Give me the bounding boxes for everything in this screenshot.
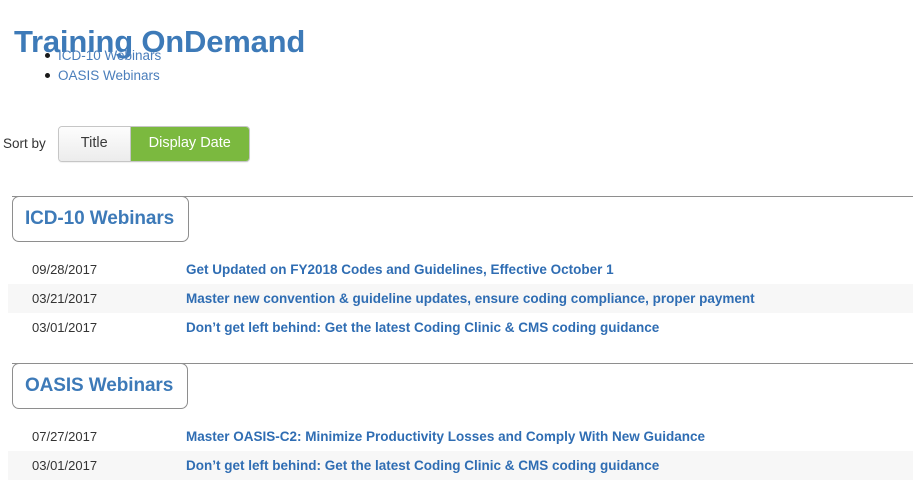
- section-header: OASIS Webinars: [0, 363, 921, 411]
- section-tab-icd10: ICD-10 Webinars: [12, 196, 189, 242]
- row-title: Don’t get left behind: Get the latest Co…: [186, 457, 659, 475]
- table-row[interactable]: 03/01/2017 Don’t get left behind: Get th…: [8, 313, 913, 342]
- row-date: 09/28/2017: [8, 262, 186, 277]
- section-heading: ICD-10 Webinars: [25, 208, 174, 230]
- sort-by-title-button[interactable]: Title: [59, 127, 131, 161]
- section-oasis-webinars: OASIS Webinars 07/27/2017 Master OASIS-C…: [0, 363, 921, 480]
- row-date: 03/01/2017: [8, 458, 186, 473]
- sort-by-label: Sort by: [3, 136, 46, 151]
- webinar-list-icd10: 09/28/2017 Get Updated on FY2018 Codes a…: [0, 255, 921, 342]
- sort-bar: Sort by Title Display Date: [0, 126, 250, 162]
- row-title: Master new convention & guideline update…: [186, 290, 755, 308]
- webinar-link[interactable]: Don’t get left behind: Get the latest Co…: [186, 320, 659, 335]
- row-title: Master OASIS-C2: Minimize Productivity L…: [186, 428, 705, 446]
- webinar-category-list: ICD-10 Webinars OASIS Webinars: [30, 46, 161, 86]
- bullet-icon: [45, 53, 50, 58]
- webinar-link[interactable]: Don’t get left behind: Get the latest Co…: [186, 458, 659, 473]
- list-item: OASIS Webinars: [58, 66, 161, 86]
- table-row[interactable]: 03/21/2017 Master new convention & guide…: [8, 284, 913, 313]
- webinar-link[interactable]: Master new convention & guideline update…: [186, 291, 755, 306]
- section-heading: OASIS Webinars: [25, 375, 173, 397]
- sort-button-group: Title Display Date: [58, 126, 250, 162]
- row-title: Get Updated on FY2018 Codes and Guidelin…: [186, 261, 614, 279]
- bullet-icon: [45, 73, 50, 78]
- table-row[interactable]: 03/01/2017 Don’t get left behind: Get th…: [8, 451, 913, 480]
- row-date: 03/01/2017: [8, 320, 186, 335]
- table-row[interactable]: 07/27/2017 Master OASIS-C2: Minimize Pro…: [8, 422, 913, 451]
- webinar-link[interactable]: Get Updated on FY2018 Codes and Guidelin…: [186, 262, 614, 277]
- nav-link-oasis-webinars[interactable]: OASIS Webinars: [58, 68, 160, 83]
- table-row[interactable]: 09/28/2017 Get Updated on FY2018 Codes a…: [8, 255, 913, 284]
- webinar-link[interactable]: Master OASIS-C2: Minimize Productivity L…: [186, 429, 705, 444]
- section-header: ICD-10 Webinars: [0, 196, 921, 244]
- sort-by-display-date-button[interactable]: Display Date: [131, 127, 249, 161]
- row-title: Don’t get left behind: Get the latest Co…: [186, 319, 659, 337]
- row-date: 03/21/2017: [8, 291, 186, 306]
- section-tab-oasis: OASIS Webinars: [12, 363, 188, 409]
- section-icd10-webinars: ICD-10 Webinars 09/28/2017 Get Updated o…: [0, 196, 921, 342]
- nav-link-icd10-webinars[interactable]: ICD-10 Webinars: [58, 48, 161, 63]
- list-item: ICD-10 Webinars: [58, 46, 161, 66]
- row-date: 07/27/2017: [8, 429, 186, 444]
- webinar-list-oasis: 07/27/2017 Master OASIS-C2: Minimize Pro…: [0, 422, 921, 480]
